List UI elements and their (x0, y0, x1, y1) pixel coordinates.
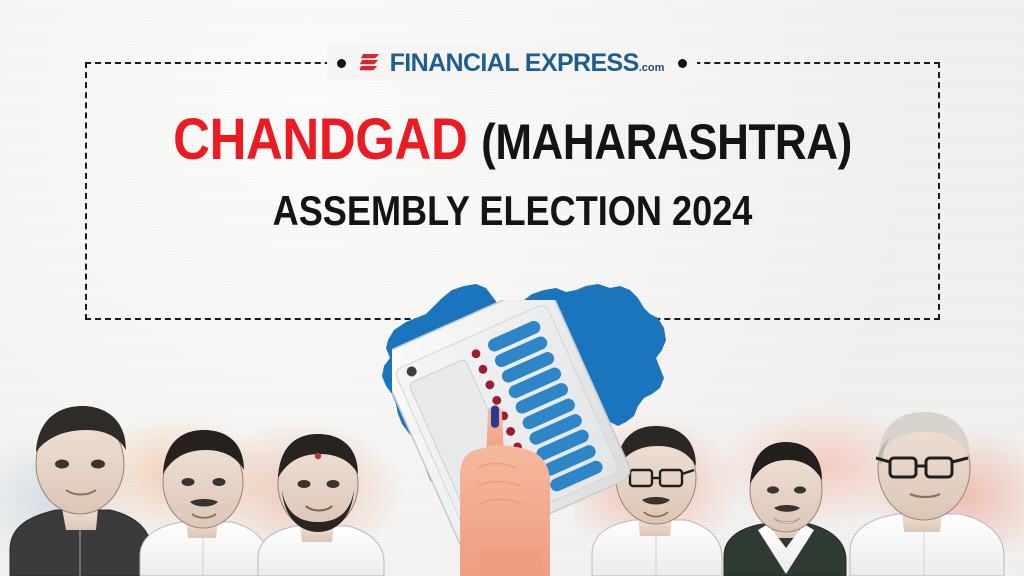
financial-express-logo-mark-icon (360, 51, 382, 75)
masthead: FINANCIAL EXPRESS.com (0, 45, 1024, 81)
bullet-dot-right-icon (678, 59, 687, 68)
page-subtitle: ASSEMBLY ELECTION 2024 (145, 187, 880, 235)
politician-portrait-3 (258, 434, 384, 576)
poster-canvas: FINANCIAL EXPRESS.com CHANDGAD (MAHARASH… (0, 0, 1024, 576)
constituency-name: CHANDGAD (173, 107, 467, 172)
politician-portrait-6 (850, 412, 1004, 576)
politician-portrait-5 (724, 442, 846, 576)
wrist (480, 548, 542, 576)
electronic-voting-machine (392, 300, 632, 576)
page-title: CHANDGAD (MAHARASHTRA) (136, 110, 888, 169)
inked-nail (491, 406, 499, 428)
brand-name: FINANCIAL EXPRESS (390, 49, 639, 77)
politician-portrait-2 (140, 430, 268, 576)
politician-portrait-1 (10, 406, 152, 576)
state-name: (MAHARASHTRA) (481, 114, 852, 170)
politician-portraits-left (0, 390, 420, 576)
masthead-inner: FINANCIAL EXPRESS.com (327, 45, 698, 81)
financial-express-brand[interactable]: FINANCIAL EXPRESS.com (360, 51, 665, 76)
brand-name-text: FINANCIAL EXPRESS.com (390, 51, 665, 76)
headline-block: CHANDGAD (MAHARASHTRA) ASSEMBLY ELECTION… (85, 110, 940, 235)
brand-tld: .com (639, 62, 665, 74)
bullet-dot-left-icon (337, 59, 346, 68)
